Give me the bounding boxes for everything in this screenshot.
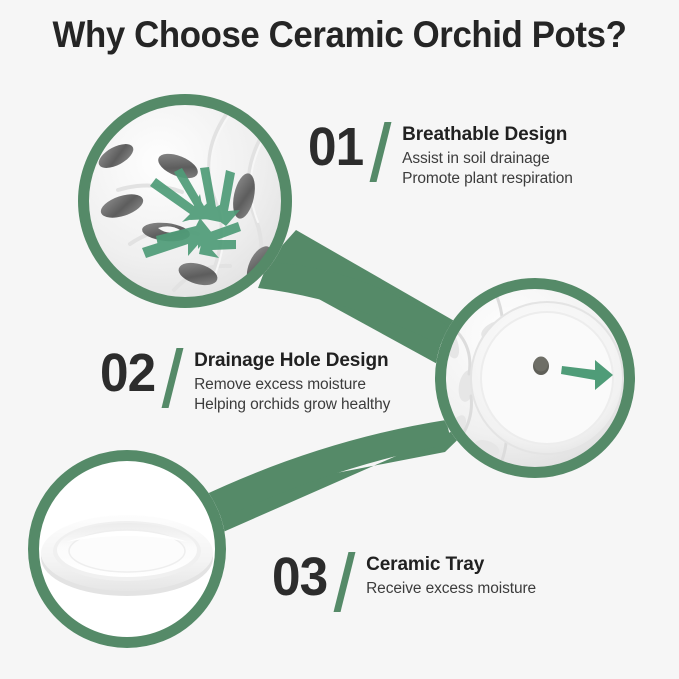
slash-divider-3 [332, 552, 358, 614]
feature-text-2: Drainage Hole Design Remove excess moist… [194, 348, 390, 415]
feature-number-2: 02 [100, 348, 155, 399]
slash-divider-1 [368, 122, 394, 184]
feature-heading-2: Drainage Hole Design [194, 350, 390, 372]
feature-line-1-2: Promote plant respiration [402, 169, 573, 189]
feature-image-drainage-hole [435, 278, 635, 478]
feature-line-2-2: Helping orchids grow healthy [194, 395, 390, 415]
feature-block-2: 02 Drainage Hole Design Remove excess mo… [100, 348, 390, 415]
feature-text-1: Breathable Design Assist in soil drainag… [402, 122, 573, 189]
feature-block-3: 03 Ceramic Tray Receive excess moisture [272, 552, 536, 614]
feature-heading-1: Breathable Design [402, 124, 573, 146]
infographic-canvas: Why Choose Ceramic Orchid Pots? [0, 0, 679, 679]
feature-line-3-1: Receive excess moisture [366, 579, 536, 599]
feature-text-3: Ceramic Tray Receive excess moisture [366, 552, 536, 599]
slash-divider-2 [160, 348, 186, 410]
feature-image-breathable-design [78, 94, 292, 308]
feature-line-1-1: Assist in soil drainage [402, 149, 573, 169]
feature-heading-3: Ceramic Tray [366, 554, 536, 576]
feature-number-1: 01 [308, 122, 363, 173]
feature-image-ceramic-tray [28, 450, 226, 648]
feature-block-1: 01 Breathable Design Assist in soil drai… [308, 122, 573, 189]
feature-number-3: 03 [272, 552, 327, 603]
feature-line-2-1: Remove excess moisture [194, 375, 390, 395]
